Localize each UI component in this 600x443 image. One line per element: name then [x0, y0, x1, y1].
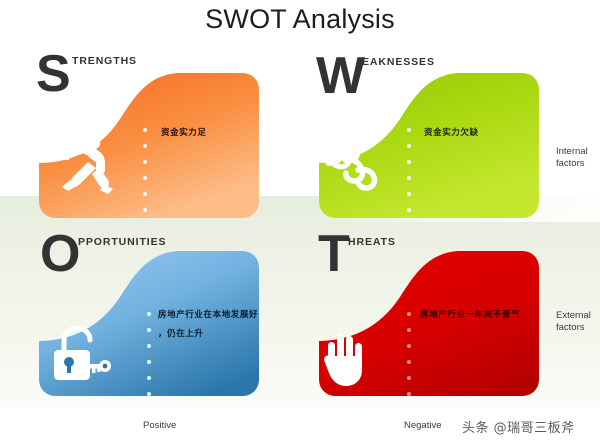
bullet-dot	[143, 208, 147, 212]
bullet-dot	[407, 176, 411, 180]
letter-initial-o: O	[40, 228, 79, 280]
bullet-dot	[407, 128, 411, 132]
bullet-dot	[407, 360, 411, 364]
bullet-dot	[143, 160, 147, 164]
unlocked-padlock-key-icon	[50, 326, 112, 389]
bullet-dot	[143, 176, 147, 180]
bullet-dot	[147, 344, 151, 348]
bullet-dot	[147, 312, 151, 316]
quadrant-text-strengths: 资金实力足	[161, 124, 207, 143]
bullet-dot	[147, 392, 151, 396]
bullet-dot	[407, 144, 411, 148]
person-pushing-icon	[56, 134, 122, 201]
bullet-dot	[147, 360, 151, 364]
bullet-dot	[407, 392, 411, 396]
axis-label-positive: Positive	[143, 420, 176, 431]
letter-initial-w: W	[316, 50, 364, 102]
bullet-dot	[407, 192, 411, 196]
person-fallen-icon	[320, 140, 390, 197]
quadrant-text-line: 房地产行业一年来不景气	[420, 306, 520, 325]
side-label-internal: Internal factors	[556, 146, 600, 170]
bullet-dot	[143, 192, 147, 196]
axis-label-negative: Negative	[404, 420, 442, 431]
letter-initial-t: T	[318, 228, 349, 280]
quadrant-text-line: 资金实力欠缺	[424, 124, 479, 143]
quadrant-text-threats: 房地产行业一年来不景气	[420, 306, 520, 325]
bullet-dot	[147, 376, 151, 380]
bullet-dot	[407, 376, 411, 380]
bullet-dot	[407, 344, 411, 348]
bullet-dot	[407, 160, 411, 164]
watermark: 头条 @瑞哥三板斧	[462, 417, 575, 436]
quadrant-text-opportunities: 房地产行业在本地发展好 ，仍在上升	[158, 306, 258, 344]
page-title: SWOT Analysis	[0, 4, 600, 35]
bullet-column-threats	[407, 312, 411, 408]
letter-rest-threats: HREATS	[348, 236, 396, 248]
bullet-column-opportunities	[147, 312, 151, 408]
bullet-dot	[407, 328, 411, 332]
quadrant-text-weaknesses: 资金实力欠缺	[424, 124, 479, 143]
quadrant-text-line: ，仍在上升	[158, 325, 258, 344]
side-label-external: External factors	[556, 310, 600, 334]
bullet-dot	[147, 328, 151, 332]
letter-rest-opportunities: PPORTUNITIES	[78, 236, 166, 248]
bullet-dot	[143, 128, 147, 132]
bullet-dot	[407, 312, 411, 316]
bullet-dot	[143, 144, 147, 148]
letter-initial-s: S	[36, 48, 70, 100]
bullet-column-weaknesses	[407, 128, 411, 224]
bullet-column-strengths	[143, 128, 147, 224]
letter-rest-weaknesses: EAKNESSES	[362, 56, 435, 68]
bullet-dot	[407, 208, 411, 212]
quadrant-text-line: 房地产行业在本地发展好	[158, 306, 258, 325]
stop-hand-icon	[322, 330, 370, 393]
quadrant-text-line: 资金实力足	[161, 124, 207, 143]
swot-analysis-diagram: SWOT Analysis S TRENGTHS 资金实力足	[0, 0, 600, 443]
letter-rest-strengths: TRENGTHS	[72, 55, 137, 67]
